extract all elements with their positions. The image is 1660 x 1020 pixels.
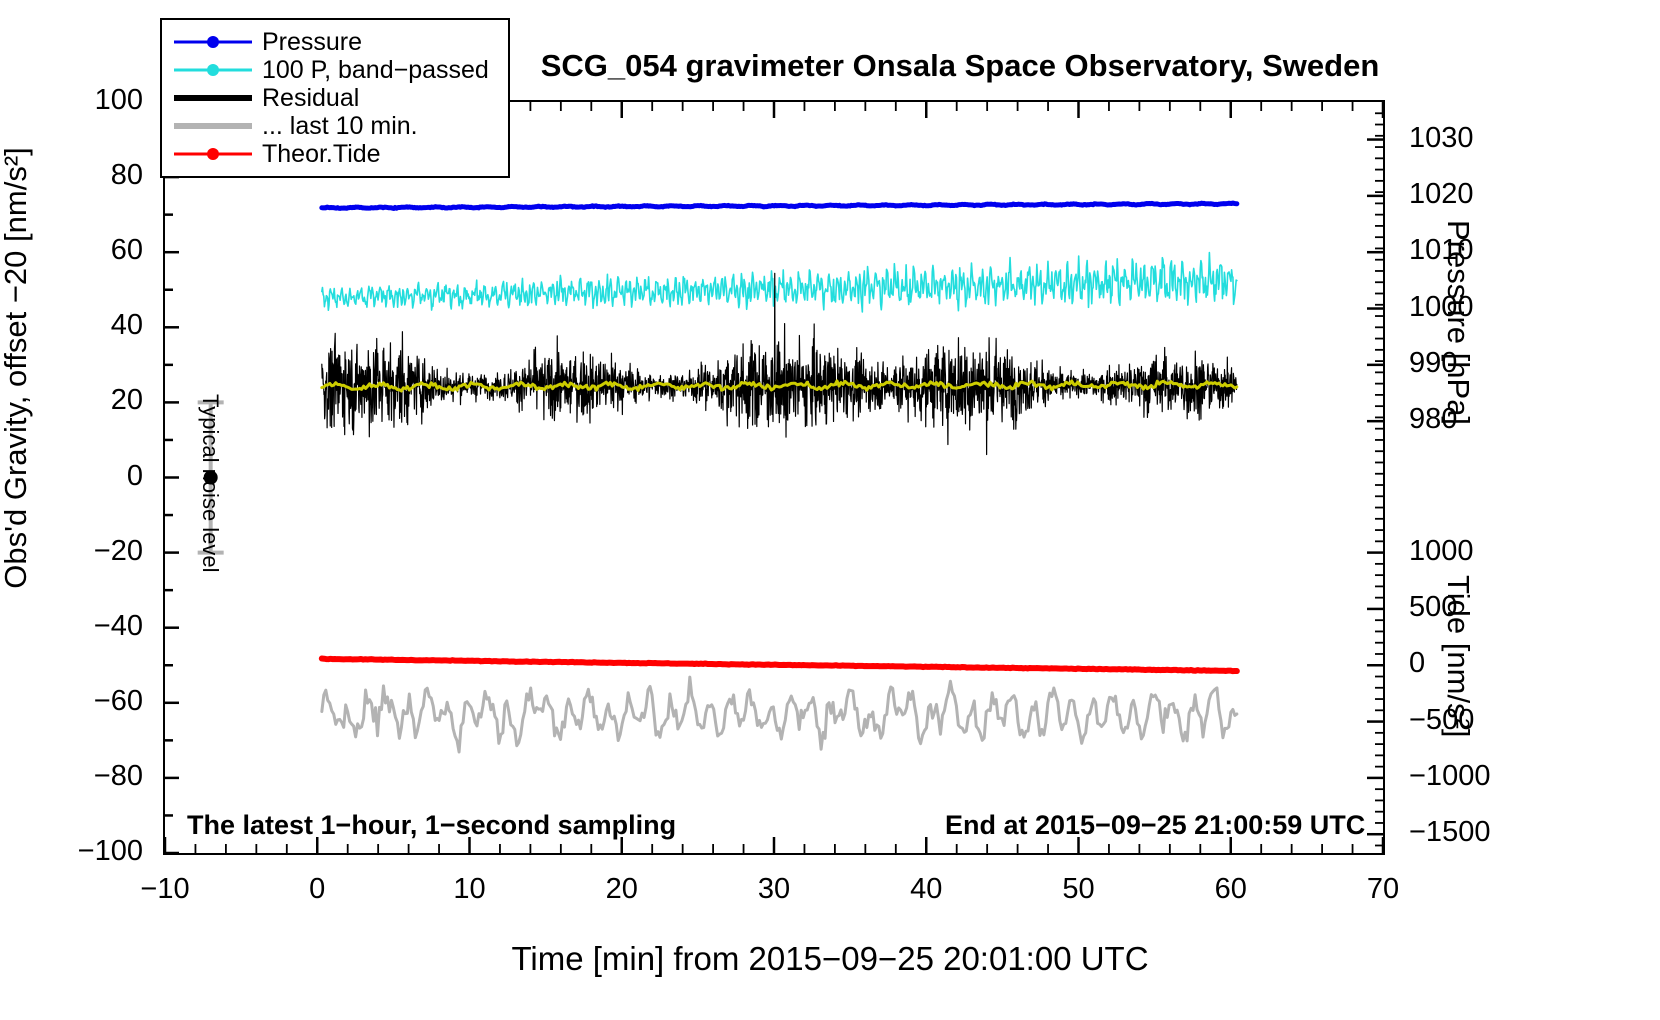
y-tick-left: 100 bbox=[23, 84, 143, 117]
legend-swatch-icon bbox=[170, 143, 256, 165]
legend-item-last-10-min[interactable]: ... last 10 min. bbox=[170, 112, 498, 140]
legend-item-label: ... last 10 min. bbox=[262, 112, 418, 140]
y-tick-right-pressure: 1030 bbox=[1409, 122, 1474, 155]
y-tick-right-tide: 1000 bbox=[1409, 535, 1474, 568]
end-time-note: End at 2015−09−25 21:00:59 UTC bbox=[945, 810, 1365, 841]
legend-swatch-icon bbox=[170, 87, 256, 109]
series-theor-tide bbox=[322, 659, 1237, 672]
legend-marker-dot-icon bbox=[207, 148, 219, 160]
x-tick: 30 bbox=[714, 873, 834, 906]
y-tick-right-pressure: 980 bbox=[1409, 403, 1457, 436]
legend-swatch-icon bbox=[170, 59, 256, 81]
x-tick: 60 bbox=[1171, 873, 1291, 906]
legend-item-label: Theor.Tide bbox=[262, 140, 381, 168]
legend-item-label: Pressure bbox=[262, 28, 362, 56]
x-tick: 10 bbox=[410, 873, 530, 906]
legend-item-100-p-band-passed[interactable]: 100 P, band−passed bbox=[170, 56, 498, 84]
page-title: SCG_054 gravimeter Onsala Space Observat… bbox=[520, 48, 1400, 84]
series-100-p-band-passed bbox=[322, 253, 1237, 312]
x-tick: 0 bbox=[257, 873, 377, 906]
y-tick-right-tide: −500 bbox=[1409, 704, 1474, 737]
legend-item-residual[interactable]: Residual bbox=[170, 84, 498, 112]
y-tick-right-pressure: 1010 bbox=[1409, 234, 1474, 267]
legend-marker-dot-icon bbox=[207, 36, 219, 48]
x-tick: 70 bbox=[1323, 873, 1443, 906]
y-tick-right-tide: 0 bbox=[1409, 647, 1425, 680]
plot-area: The latest 1−hour, 1−second sampling End… bbox=[163, 100, 1385, 855]
y-tick-right-tide: 500 bbox=[1409, 591, 1457, 624]
legend[interactable]: Pressure100 P, band−passedResidual... la… bbox=[160, 18, 510, 178]
y-tick-left: 40 bbox=[23, 309, 143, 342]
x-axis-title: Time [min] from 2015−09−25 20:01:00 UTC bbox=[0, 940, 1660, 978]
noise-level-label: Typical noise level bbox=[197, 394, 223, 573]
legend-item-pressure[interactable]: Pressure bbox=[170, 28, 498, 56]
y-tick-left: 20 bbox=[23, 384, 143, 417]
series-last-10-min bbox=[322, 677, 1237, 752]
y-tick-left: 80 bbox=[23, 159, 143, 192]
legend-item-label: Residual bbox=[262, 84, 359, 112]
x-tick: −10 bbox=[105, 873, 225, 906]
x-tick: 40 bbox=[866, 873, 986, 906]
y-tick-left: −40 bbox=[23, 610, 143, 643]
x-tick: 50 bbox=[1019, 873, 1139, 906]
x-tick: 20 bbox=[562, 873, 682, 906]
series-pressure bbox=[322, 203, 1237, 208]
legend-swatch-icon bbox=[170, 115, 256, 137]
sampling-note: The latest 1−hour, 1−second sampling bbox=[187, 810, 676, 841]
legend-item-label: 100 P, band−passed bbox=[262, 56, 489, 84]
y-tick-left: 0 bbox=[23, 460, 143, 493]
y-tick-right-pressure: 1000 bbox=[1409, 291, 1474, 324]
y-tick-left: 60 bbox=[23, 234, 143, 267]
plot-canvas bbox=[165, 102, 1383, 853]
legend-item-theor-tide[interactable]: Theor.Tide bbox=[170, 140, 498, 168]
legend-marker-dot-icon bbox=[207, 64, 219, 76]
y-tick-left: −100 bbox=[23, 835, 143, 868]
y-tick-left: −60 bbox=[23, 685, 143, 718]
y-tick-right-pressure: 1020 bbox=[1409, 178, 1474, 211]
legend-swatch-icon bbox=[170, 31, 256, 53]
y-tick-right-pressure: 990 bbox=[1409, 347, 1457, 380]
y-tick-right-tide: −1000 bbox=[1409, 760, 1490, 793]
y-tick-left: −80 bbox=[23, 760, 143, 793]
y-tick-left: −20 bbox=[23, 535, 143, 568]
y-tick-right-tide: −1500 bbox=[1409, 816, 1490, 849]
